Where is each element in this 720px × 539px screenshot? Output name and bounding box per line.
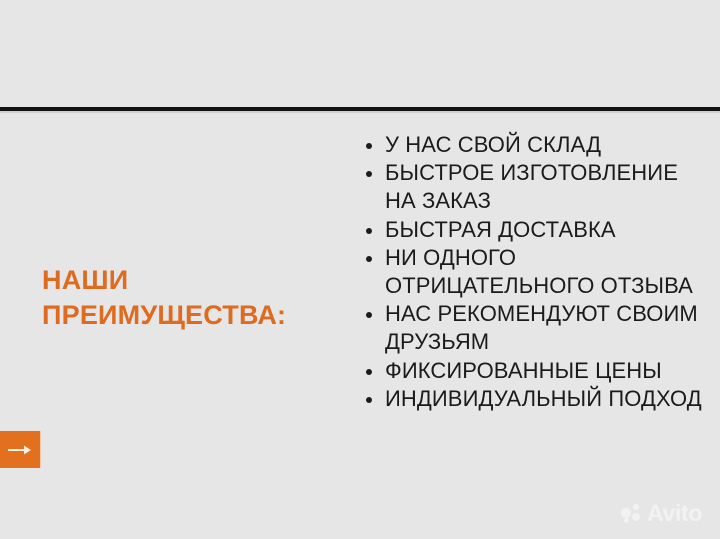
list-item: У НАС СВОЙ СКЛАД (362, 131, 712, 159)
bullet-dot-icon (366, 369, 372, 375)
list-item: БЫСТРАЯ ДОСТАВКА (362, 216, 712, 244)
bullet-dot-icon (366, 397, 372, 403)
bullet-dot-icon (366, 256, 372, 262)
list-item: БЫСТРОЕ ИЗГОТОВЛЕНИЕ НА ЗАКАЗ (362, 159, 712, 215)
top-divider-shadow (0, 111, 720, 113)
avito-watermark: Avito (621, 502, 702, 525)
bullet-dot-icon (366, 228, 372, 234)
benefits-list: У НАС СВОЙ СКЛАД БЫСТРОЕ ИЗГОТОВЛЕНИЕ НА… (362, 131, 712, 413)
next-arrow-button[interactable] (0, 431, 41, 468)
list-item: НИ ОДНОГО ОТРИЦАТЕЛЬНОГО ОТЗЫВА (362, 244, 712, 300)
list-item-label: НАС РЕКОМЕНДУЮТ СВОИМ ДРУЗЬЯМ (385, 301, 698, 354)
avito-dots-icon (621, 504, 643, 524)
list-item: НАС РЕКОМЕНДУЮТ СВОИМ ДРУЗЬЯМ (362, 300, 712, 356)
list-item-label: ФИКСИРОВАННЫЕ ЦЕНЫ (385, 358, 662, 383)
list-item: ИНДИВИДУАЛЬНЫЙ ПОДХОД (362, 385, 712, 413)
arrow-right-icon (7, 444, 33, 456)
list-item: ФИКСИРОВАННЫЕ ЦЕНЫ (362, 357, 712, 385)
list-item-label: ИНДИВИДУАЛЬНЫЙ ПОДХОД (385, 386, 702, 411)
list-item-label: БЫСТРОЕ ИЗГОТОВЛЕНИЕ НА ЗАКАЗ (385, 160, 678, 213)
slide-canvas: НАШИ ПРЕИМУЩЕСТВА: У НАС СВОЙ СКЛАД БЫСТ… (0, 0, 720, 539)
bullet-dot-icon (366, 312, 372, 318)
bullet-dot-icon (366, 171, 372, 177)
list-item-label: БЫСТРАЯ ДОСТАВКА (385, 217, 616, 242)
page-title: НАШИ ПРЕИМУЩЕСТВА: (42, 263, 352, 333)
list-item-label: НИ ОДНОГО ОТРИЦАТЕЛЬНОГО ОТЗЫВА (385, 245, 693, 298)
avito-wordmark: Avito (647, 502, 702, 525)
bullet-dot-icon (366, 143, 372, 149)
list-item-label: У НАС СВОЙ СКЛАД (385, 132, 601, 157)
